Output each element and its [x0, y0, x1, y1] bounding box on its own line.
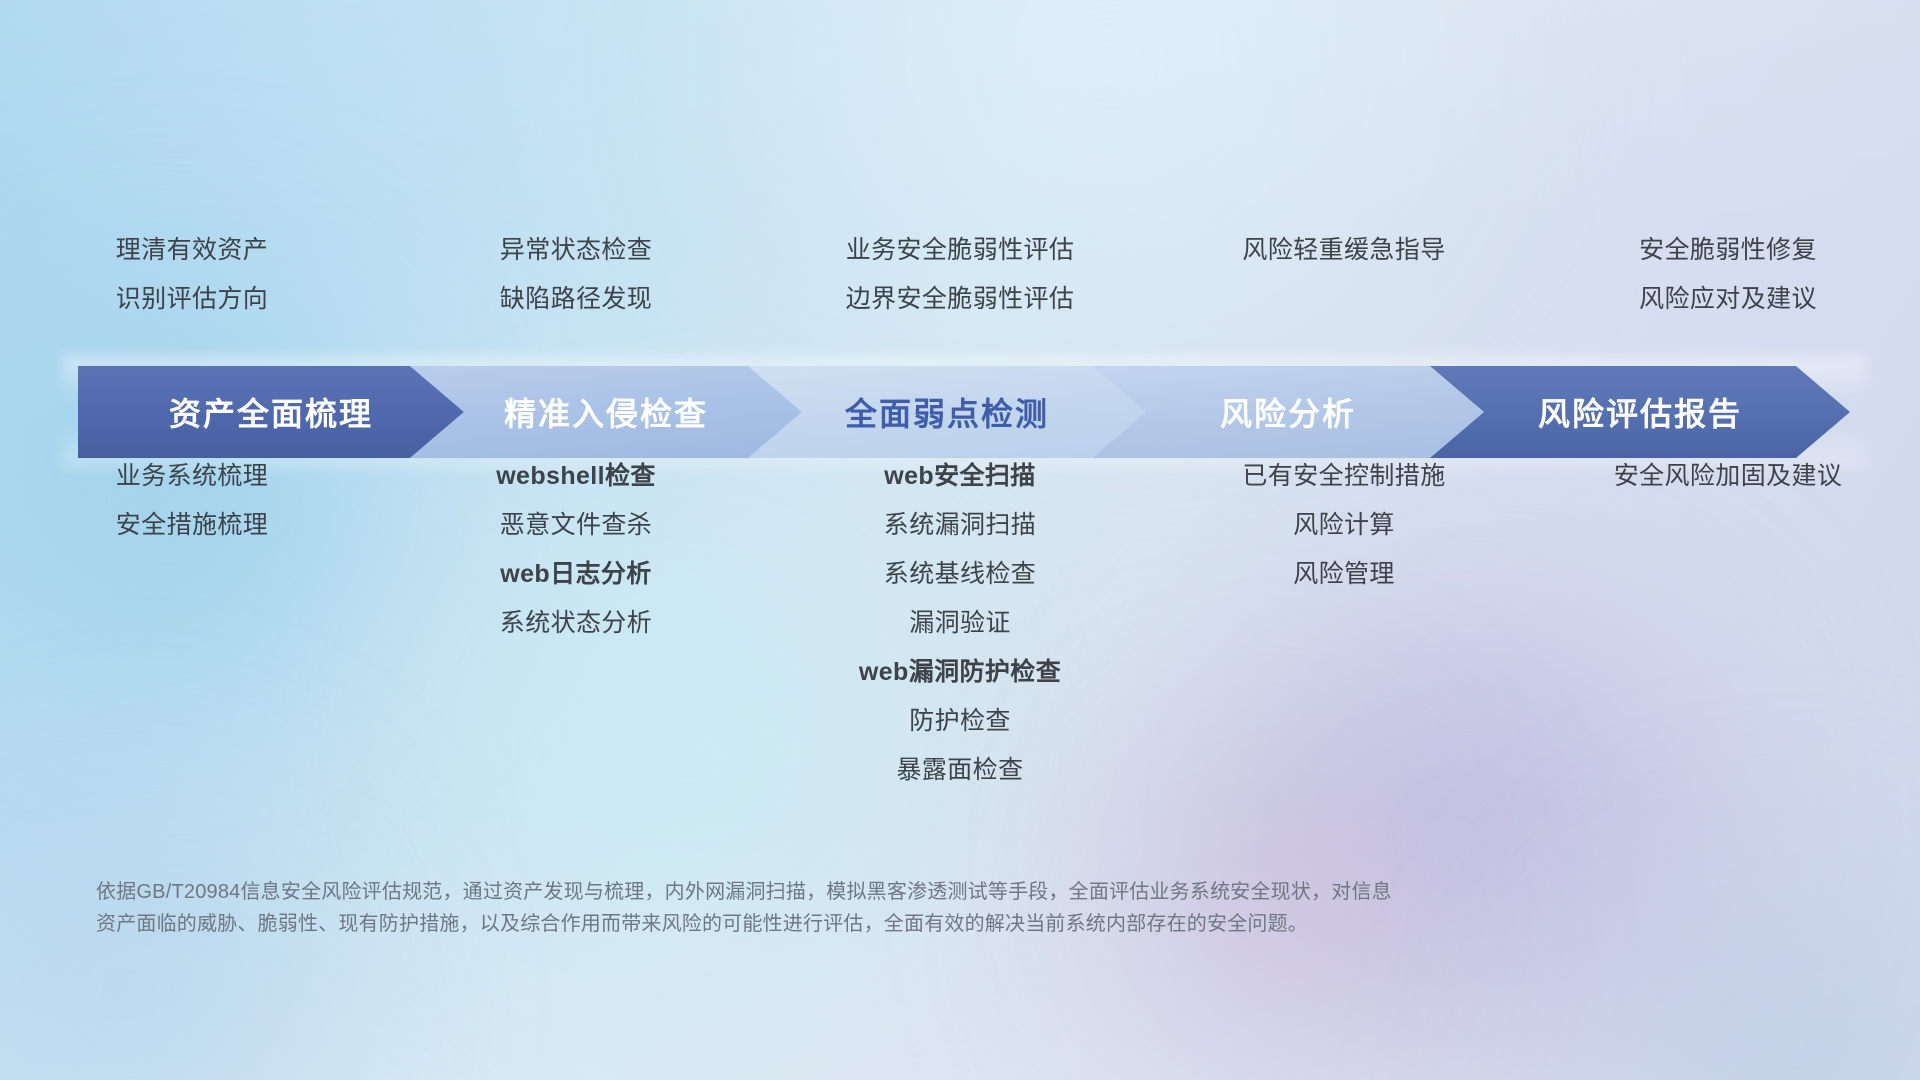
chevron-label: 风险评估报告	[1538, 389, 1742, 435]
top-label: 缺陷路径发现	[398, 275, 754, 324]
top-labels-row: 理清有效资产 识别评估方向 异常状态检查 缺陷路径发现 业务安全脆弱性评估 边界…	[0, 226, 1920, 324]
top-label: 风险轻重缓急指导	[1166, 226, 1522, 275]
slide-canvas: 理清有效资产 识别评估方向 异常状态检查 缺陷路径发现 业务安全脆弱性评估 边界…	[0, 0, 1920, 1080]
list-item: 系统漏洞扫描	[778, 501, 1142, 550]
top-labels-weakness: 业务安全脆弱性评估 边界安全脆弱性评估	[768, 226, 1152, 324]
chevron-step-weakness[interactable]: 全面弱点检测	[748, 366, 1146, 458]
top-label: 风险应对及建议	[1550, 275, 1906, 324]
chevron-step-intrusion[interactable]: 精准入侵检查	[410, 366, 802, 458]
list-item: 风险计算	[1162, 501, 1526, 550]
list-item: 安全措施梳理	[10, 501, 374, 550]
top-labels-risk-analysis: 风险轻重缓急指导	[1152, 226, 1536, 324]
bottom-list-asset: 业务系统梳理 安全措施梳理	[0, 452, 384, 795]
bottom-lists-row: 业务系统梳理 安全措施梳理 webshell检查 恶意文件查杀 web日志分析 …	[0, 452, 1920, 795]
bottom-list-report: 安全风险加固及建议	[1536, 452, 1920, 795]
chevron-label: 资产全面梳理	[169, 389, 373, 435]
list-item: 恶意文件查杀	[394, 501, 758, 550]
bottom-list-intrusion: webshell检查 恶意文件查杀 web日志分析 系统状态分析	[384, 452, 768, 795]
chevron-label: 风险分析	[1220, 389, 1356, 435]
list-item: 暴露面检查	[778, 746, 1142, 795]
footer-line: 依据GB/T20984信息安全风险评估规范，通过资产发现与梳理，内外网漏洞扫描，…	[96, 876, 1616, 908]
chevron-step-report[interactable]: 风险评估报告	[1430, 366, 1850, 458]
list-item: web安全扫描	[778, 452, 1142, 501]
list-item: web漏洞防护检查	[778, 648, 1142, 697]
bottom-list-risk-analysis: 已有安全控制措施 风险计算 风险管理	[1152, 452, 1536, 795]
top-label: 理清有效资产	[14, 226, 370, 275]
list-item: web日志分析	[394, 550, 758, 599]
footer-description: 依据GB/T20984信息安全风险评估规范，通过资产发现与梳理，内外网漏洞扫描，…	[96, 876, 1616, 940]
top-label: 边界安全脆弱性评估	[782, 275, 1138, 324]
list-item: 已有安全控制措施	[1162, 452, 1526, 501]
list-item: 安全风险加固及建议	[1546, 452, 1910, 501]
footer-line: 资产面临的威胁、脆弱性、现有防护措施，以及综合作用而带来风险的可能性进行评估，全…	[96, 908, 1616, 940]
bottom-list-weakness: web安全扫描 系统漏洞扫描 系统基线检查 漏洞验证 web漏洞防护检查 防护检…	[768, 452, 1152, 795]
top-label: 业务安全脆弱性评估	[782, 226, 1138, 275]
list-item: webshell检查	[394, 452, 758, 501]
top-label: 识别评估方向	[14, 275, 370, 324]
top-label: 异常状态检查	[398, 226, 754, 275]
list-item: 漏洞验证	[778, 599, 1142, 648]
top-label: 安全脆弱性修复	[1550, 226, 1906, 275]
top-labels-intrusion: 异常状态检查 缺陷路径发现	[384, 226, 768, 324]
chevron-step-risk-analysis[interactable]: 风险分析	[1092, 366, 1484, 458]
list-item: 业务系统梳理	[10, 452, 374, 501]
top-labels-asset: 理清有效资产 识别评估方向	[0, 226, 384, 324]
list-item: 系统状态分析	[394, 599, 758, 648]
list-item: 防护检查	[778, 697, 1142, 746]
chevron-label: 全面弱点检测	[845, 389, 1049, 435]
chevron-step-asset[interactable]: 资产全面梳理	[78, 366, 464, 458]
list-item: 风险管理	[1162, 550, 1526, 599]
process-chevron-band: 资产全面梳理 精准入侵检查 全面弱点检测 风险分析 风险评估报告	[78, 366, 1850, 458]
top-labels-report: 安全脆弱性修复 风险应对及建议	[1536, 226, 1920, 324]
list-item: 系统基线检查	[778, 550, 1142, 599]
chevron-label: 精准入侵检查	[504, 389, 708, 435]
